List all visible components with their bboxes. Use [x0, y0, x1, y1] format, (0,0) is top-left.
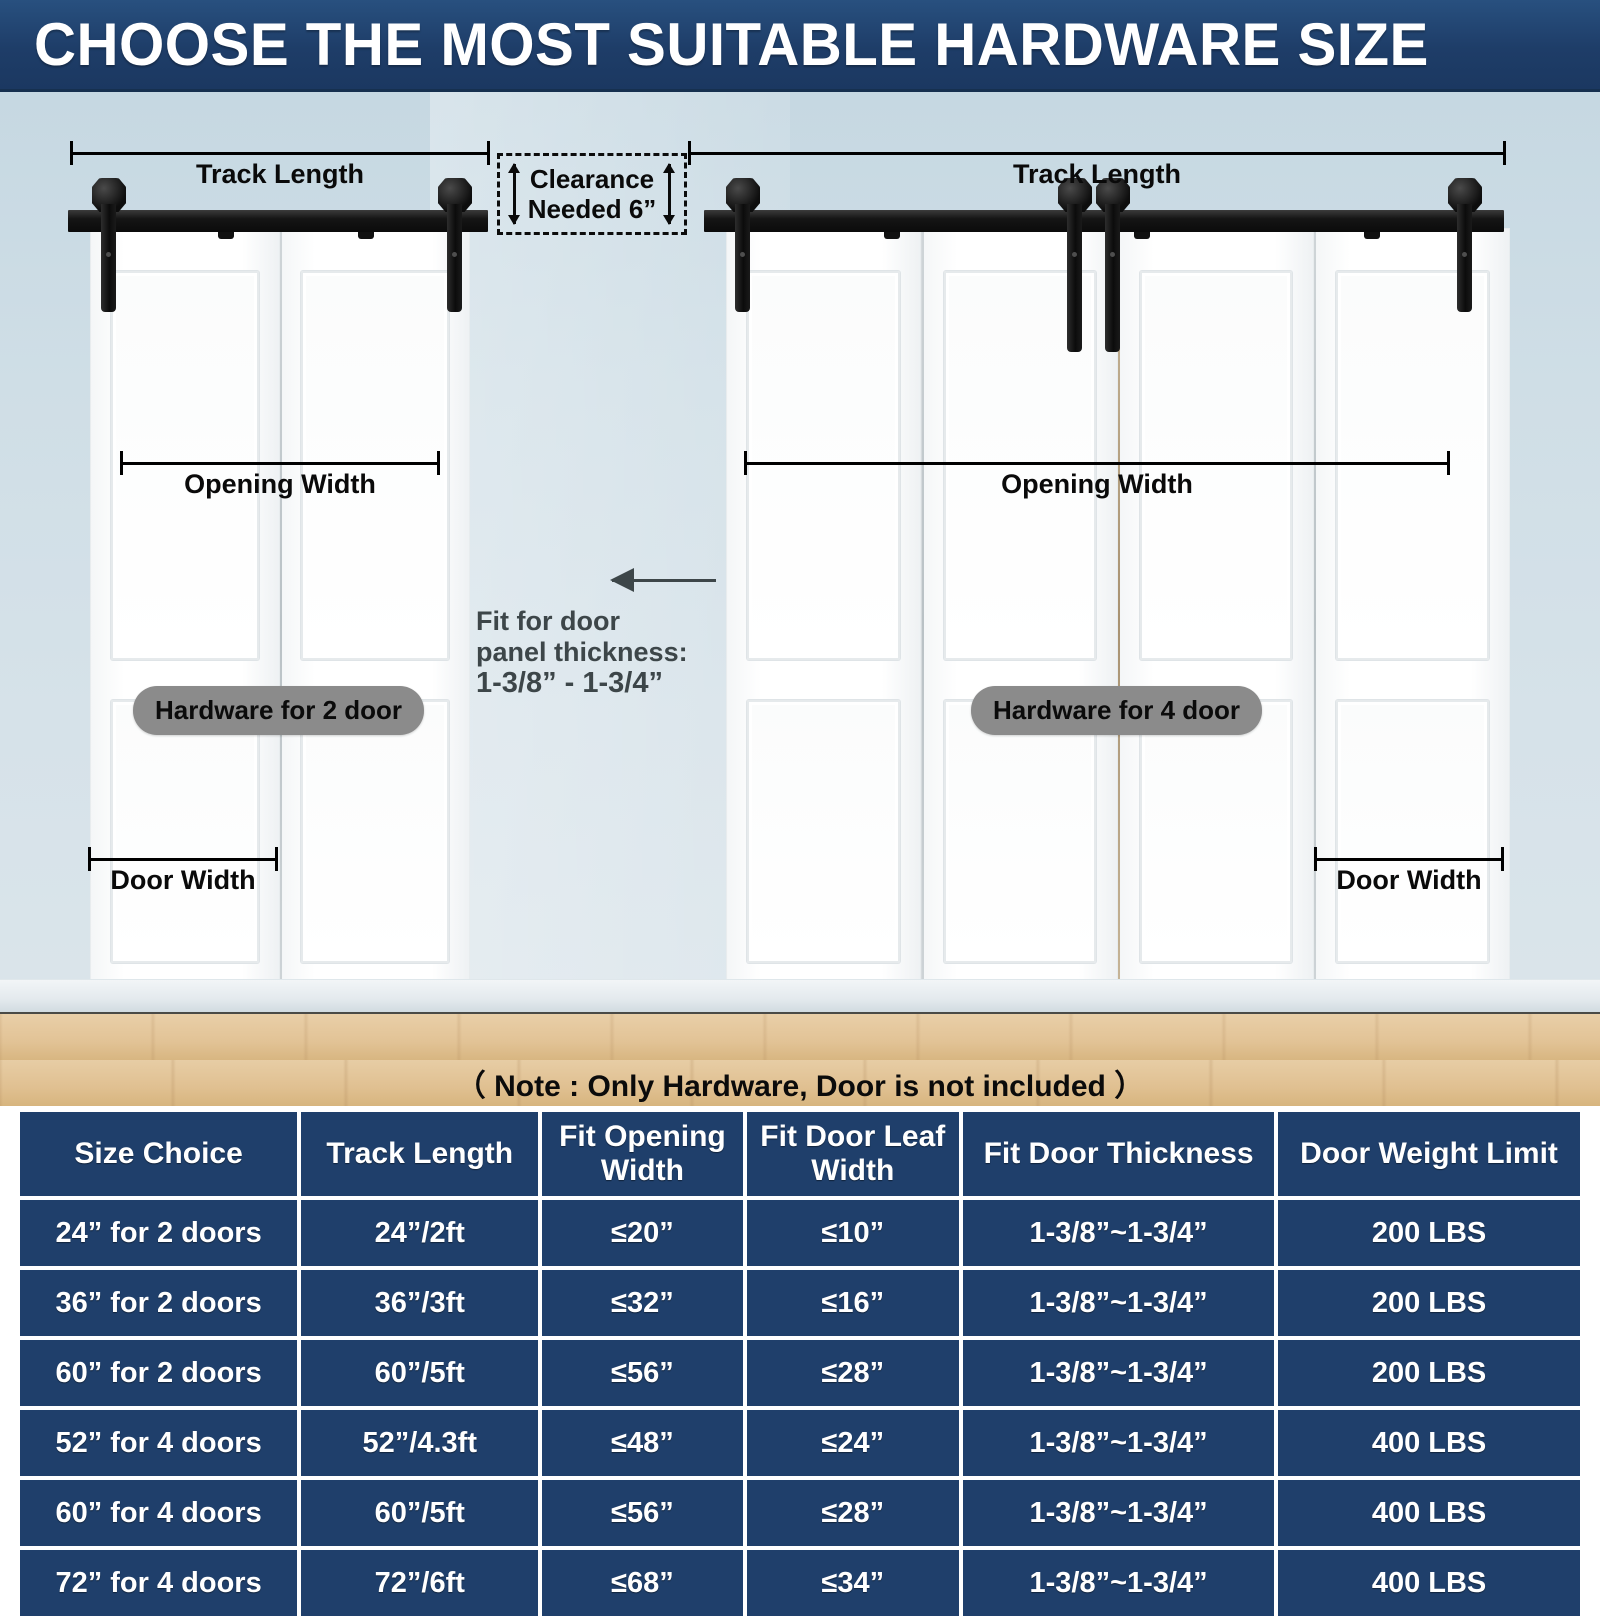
- table-cell: 36”/3ft: [301, 1270, 538, 1336]
- table-cell: 60” for 2 doors: [20, 1340, 297, 1406]
- table-cell: 200 LBS: [1278, 1200, 1580, 1266]
- table-cell: 24” for 2 doors: [20, 1200, 297, 1266]
- dimension-bar: [1314, 858, 1504, 861]
- table-cell: ≤28”: [747, 1340, 960, 1406]
- table-cell: 60”/5ft: [301, 1480, 538, 1546]
- dimension-label: Track Length: [688, 159, 1506, 190]
- table-cell: ≤34”: [747, 1550, 960, 1616]
- door-lower-panel: [1140, 700, 1292, 963]
- hanger-strap: [1105, 204, 1120, 352]
- table-cell: ≤24”: [747, 1410, 960, 1476]
- dimension-opening-width-left: Opening Width: [120, 462, 440, 508]
- table-cell: ≤20”: [542, 1200, 742, 1266]
- track-mount-foot: [358, 232, 374, 239]
- hanger-strap: [447, 204, 462, 312]
- hanger-strap: [1067, 204, 1082, 352]
- hanger-strap: [735, 204, 750, 312]
- page-title: CHOOSE THE MOST SUITABLE HARDWARE SIZE: [34, 15, 1429, 75]
- note-strip: （ Note : Only Hardware, Door is not incl…: [0, 1060, 1600, 1106]
- table-row: 60” for 4 doors60”/5ft≤56”≤28”1-3/8”~1-3…: [20, 1480, 1580, 1546]
- table-row: 36” for 2 doors36”/3ft≤32”≤16”1-3/8”~1-3…: [20, 1270, 1580, 1336]
- table-cell: 52”/4.3ft: [301, 1410, 538, 1476]
- table-cell: 1-3/8”~1-3/4”: [963, 1200, 1274, 1266]
- door-seam: [922, 228, 924, 1014]
- fit-note-line-3: 1-3/8” - 1-3/4”: [476, 668, 688, 699]
- fit-note-arrow: [612, 579, 716, 582]
- track-mount-foot: [884, 232, 900, 239]
- table-row: 24” for 2 doors24”/2ft≤20”≤10”1-3/8”~1-3…: [20, 1200, 1580, 1266]
- fit-note-text: Fit for door panel thickness: 1-3/8” - 1…: [476, 606, 688, 699]
- table-body: 24” for 2 doors24”/2ft≤20”≤10”1-3/8”~1-3…: [20, 1200, 1580, 1616]
- dimension-label: Track Length: [70, 159, 490, 190]
- door-lower-panel: [111, 700, 259, 963]
- table-cell: 200 LBS: [1278, 1340, 1580, 1406]
- door-lower-panel: [944, 700, 1096, 963]
- dimension-bar: [120, 462, 440, 465]
- track-rail-right: [704, 210, 1504, 232]
- hanger-strap: [1457, 204, 1472, 312]
- table-cell: ≤68”: [542, 1550, 742, 1616]
- table-cell: 24”/2ft: [301, 1200, 538, 1266]
- door-panel: [1118, 228, 1314, 1014]
- table-row: 52” for 4 doors52”/4.3ft≤48”≤24”1-3/8”~1…: [20, 1410, 1580, 1476]
- dimension-opening-width-right: Opening Width: [744, 462, 1450, 508]
- table-column-header: Fit Opening Width: [542, 1112, 742, 1196]
- table-cell: 52” for 4 doors: [20, 1410, 297, 1476]
- badge-hardware-4-door: Hardware for 4 door: [971, 686, 1262, 735]
- table-cell: 1-3/8”~1-3/4”: [963, 1270, 1274, 1336]
- dimension-label: Door Width: [88, 865, 278, 896]
- table-cell: 400 LBS: [1278, 1550, 1580, 1616]
- table-column-header: Fit Door Leaf Width: [747, 1112, 960, 1196]
- table-head: Size ChoiceTrack LengthFit Opening Width…: [20, 1112, 1580, 1196]
- door-panel: [726, 228, 921, 1014]
- dimension-door-width-left: Door Width: [88, 858, 278, 904]
- hanger-strap: [101, 204, 116, 312]
- clearance-box: Clearance Needed 6”: [497, 153, 687, 235]
- track-mount-foot: [1364, 232, 1380, 239]
- table-cell: 36” for 2 doors: [20, 1270, 297, 1336]
- table-cell: 1-3/8”~1-3/4”: [963, 1340, 1274, 1406]
- track-mount-foot: [1134, 232, 1150, 239]
- table-cell: ≤32”: [542, 1270, 742, 1336]
- door-lower-panel: [1336, 700, 1488, 963]
- header-banner: CHOOSE THE MOST SUITABLE HARDWARE SIZE: [0, 0, 1600, 92]
- baseboard: [0, 979, 1600, 1014]
- fit-note-line-2: panel thickness:: [476, 637, 688, 668]
- table-cell: 1-3/8”~1-3/4”: [963, 1480, 1274, 1546]
- dimension-label: Door Width: [1314, 865, 1504, 896]
- hardware-size-infographic: CHOOSE THE MOST SUITABLE HARDWARE SIZE: [0, 0, 1600, 1600]
- note-text: （ Note : Only Hardware, Door is not incl…: [456, 1061, 1144, 1105]
- track-rail-left: [68, 210, 488, 232]
- dimension-bar: [70, 152, 490, 155]
- table-cell: 400 LBS: [1278, 1410, 1580, 1476]
- badge-hardware-2-door: Hardware for 2 door: [133, 686, 424, 735]
- clearance-line-1: Clearance: [530, 164, 654, 194]
- table-cell: ≤16”: [747, 1270, 960, 1336]
- door-seam: [280, 228, 282, 1014]
- size-spec-table: Size ChoiceTrack LengthFit Opening Width…: [16, 1108, 1584, 1620]
- table-cell: 72”/6ft: [301, 1550, 538, 1616]
- table-cell: ≤28”: [747, 1480, 960, 1546]
- table-row: 72” for 4 doors72”/6ft≤68”≤34”1-3/8”~1-3…: [20, 1550, 1580, 1616]
- dimension-bar: [88, 858, 278, 861]
- table-column-header: Fit Door Thickness: [963, 1112, 1274, 1196]
- door-scene: Track Length Track Length Clearance Need…: [0, 92, 1600, 1060]
- dimension-track-length-left: Track Length: [70, 152, 490, 198]
- door-panel: [280, 228, 471, 1014]
- table-cell: 1-3/8”~1-3/4”: [963, 1410, 1274, 1476]
- table-cell: 200 LBS: [1278, 1270, 1580, 1336]
- table-cell: ≤56”: [542, 1340, 742, 1406]
- table-header-row: Size ChoiceTrack LengthFit Opening Width…: [20, 1112, 1580, 1196]
- dimension-track-length-right: Track Length: [688, 152, 1506, 198]
- dimension-label: Opening Width: [120, 469, 440, 500]
- dimension-bar: [744, 462, 1450, 465]
- table-cell: ≤48”: [542, 1410, 742, 1476]
- table-column-header: Door Weight Limit: [1278, 1112, 1580, 1196]
- door-lower-panel: [301, 700, 449, 963]
- clearance-label: Clearance Needed 6”: [497, 164, 687, 224]
- fit-note-line-1: Fit for door: [476, 606, 688, 637]
- table-cell: ≤56”: [542, 1480, 742, 1546]
- dimension-bar: [688, 152, 1506, 155]
- table-cell: 1-3/8”~1-3/4”: [963, 1550, 1274, 1616]
- track-mount-foot: [218, 232, 234, 239]
- door-panel: [921, 228, 1117, 1014]
- floor: [0, 1012, 1600, 1060]
- table-column-header: Size Choice: [20, 1112, 297, 1196]
- table-row: 60” for 2 doors60”/5ft≤56”≤28”1-3/8”~1-3…: [20, 1340, 1580, 1406]
- table-column-header: Track Length: [301, 1112, 538, 1196]
- door-lower-panel: [747, 700, 899, 963]
- table-cell: 60” for 4 doors: [20, 1480, 297, 1546]
- dimension-door-width-right: Door Width: [1314, 858, 1504, 904]
- table-cell: 72” for 4 doors: [20, 1550, 297, 1616]
- table-cell: ≤10”: [747, 1200, 960, 1266]
- clearance-line-2: Needed 6”: [528, 194, 657, 224]
- table-cell: 400 LBS: [1278, 1480, 1580, 1546]
- table-cell: 60”/5ft: [301, 1340, 538, 1406]
- dimension-label: Opening Width: [744, 469, 1450, 500]
